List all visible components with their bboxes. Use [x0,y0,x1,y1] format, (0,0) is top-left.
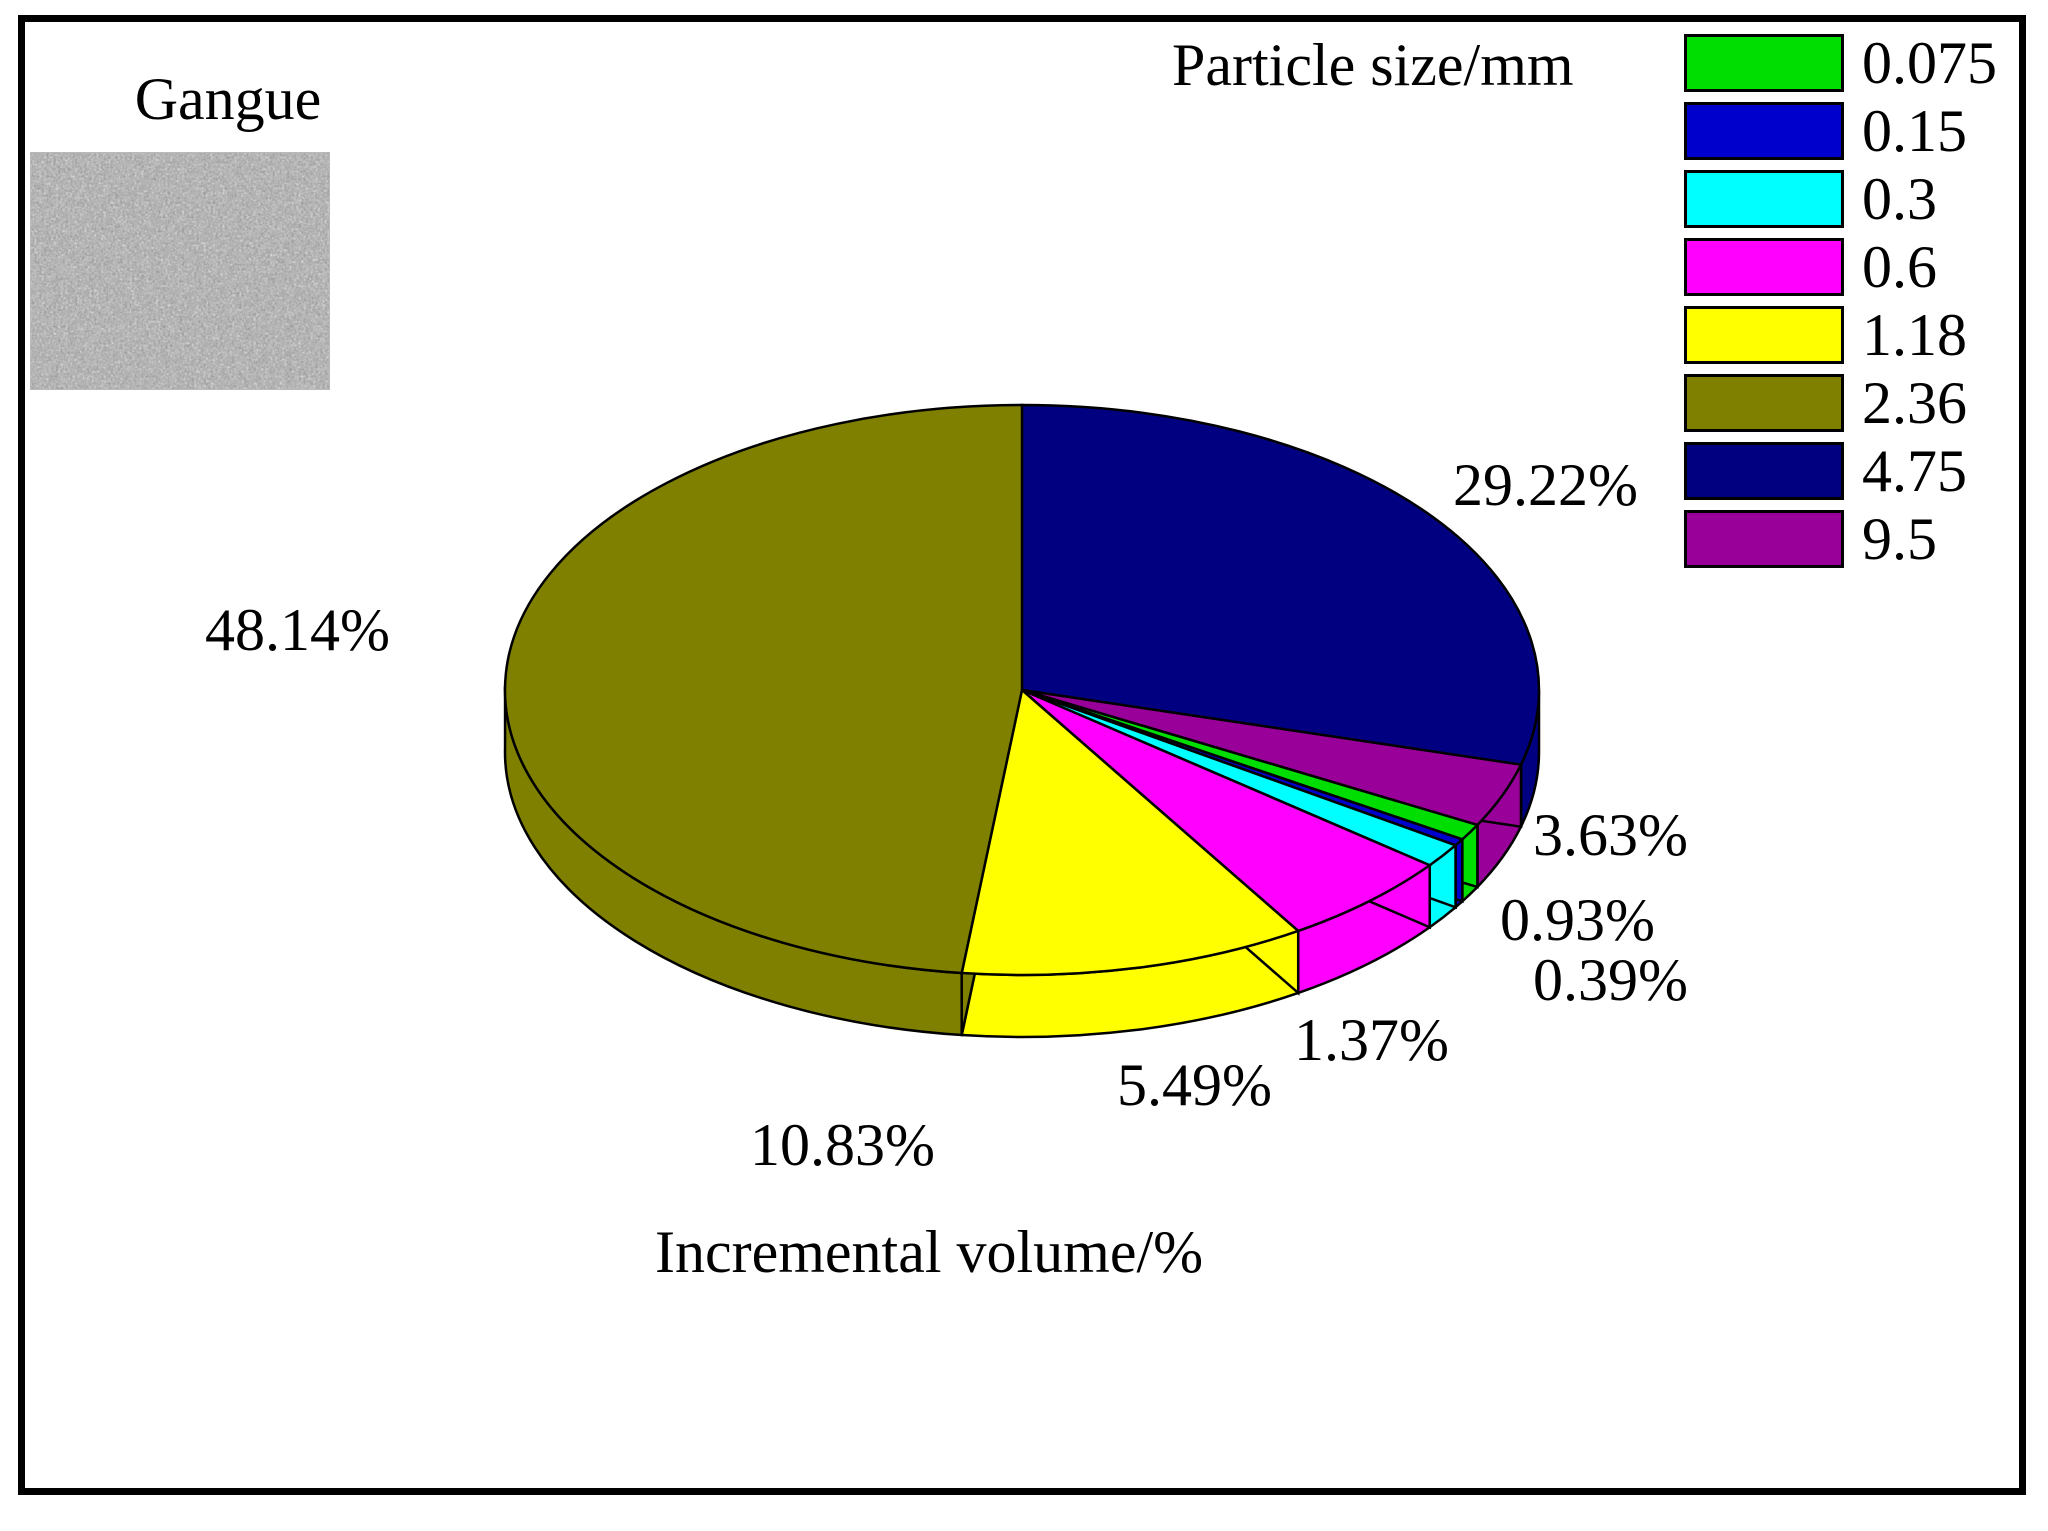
legend-label-1.18: 1.18 [1862,305,1967,365]
legend-label-4.75: 4.75 [1862,441,1967,501]
slice-label-2.36: 48.14% [205,600,390,660]
slice-label-0.15: 0.39% [1533,950,1688,1010]
legend-item-9.5[interactable]: 9.5 [1684,506,2024,572]
legend-item-0.3[interactable]: 0.3 [1684,166,2024,232]
legend-swatch-1.18 [1684,306,1844,364]
legend-swatch-2.36 [1684,374,1844,432]
aggregate-texture [30,152,330,390]
sample-title: Gangue [78,68,378,131]
slice-label-0.3: 1.37% [1294,1010,1449,1070]
legend-swatch-4.75 [1684,442,1844,500]
legend-item-0.6[interactable]: 0.6 [1684,234,2024,300]
legend-title: Particle size/mm [1172,35,1574,95]
legend-swatch-0.075 [1684,34,1844,92]
legend-label-0.075: 0.075 [1862,33,1997,93]
legend-label-9.5: 9.5 [1862,509,1937,569]
legend-swatch-0.15 [1684,102,1844,160]
legend-label-0.15: 0.15 [1862,101,1967,161]
legend-swatch-0.6 [1684,238,1844,296]
slice-label-1.18: 10.83% [750,1115,935,1175]
figure-root: Gangue [0,0,2048,1531]
legend-item-0.15[interactable]: 0.15 [1684,98,2024,164]
legend-label-0.3: 0.3 [1862,169,1937,229]
legend-item-4.75[interactable]: 4.75 [1684,438,2024,504]
slice-label-9.5: 3.63% [1533,805,1688,865]
legend-swatch-9.5 [1684,510,1844,568]
slice-label-0.075: 0.93% [1500,890,1655,950]
legend-item-2.36[interactable]: 2.36 [1684,370,2024,436]
slice-label-4.75: 29.22% [1453,455,1638,515]
legend-label-2.36: 2.36 [1862,373,1967,433]
legend-swatch-0.3 [1684,170,1844,228]
slice-label-0.6: 5.49% [1117,1055,1272,1115]
legend-label-0.6: 0.6 [1862,237,1937,297]
gangue-aggregate-photo [30,152,330,390]
legend-item-0.075[interactable]: 0.075 [1684,30,2024,96]
legend-item-1.18[interactable]: 1.18 [1684,302,2024,368]
axis-caption: Incremental volume/% [655,1222,1203,1282]
legend: 0.0750.150.30.61.182.364.759.5 [1684,30,2024,574]
